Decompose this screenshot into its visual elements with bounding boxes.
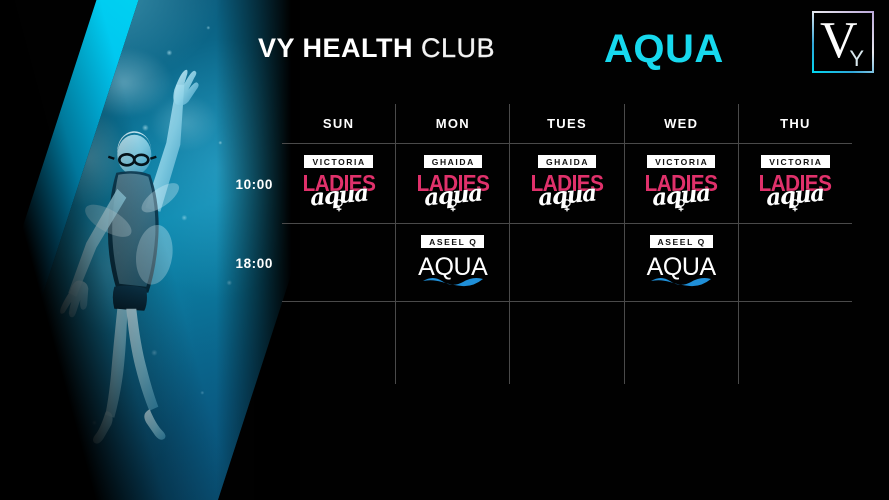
- day-header-tues: TUES: [510, 104, 624, 144]
- venus-symbol-icon: [675, 199, 687, 212]
- schedule-row-1800: 18:00 ASEEL Q AQUA ASEEL Q AQUA: [220, 224, 852, 302]
- instructor-badge: ASEEL Q: [650, 235, 713, 248]
- class-cell[interactable]: ASEEL Q AQUA: [625, 224, 739, 302]
- class-cell[interactable]: VICTORIA LADIES aqua: [625, 144, 739, 224]
- time-label-1800: 18:00: [220, 224, 282, 302]
- brand-name-bold: VY HEALTH: [258, 33, 413, 63]
- day-header-sun: SUN: [282, 104, 396, 144]
- brand-name-light: CLUB: [421, 33, 495, 63]
- venus-symbol-icon: [447, 199, 459, 212]
- page-title: VY HEALTH CLUB: [258, 33, 495, 64]
- class-cell-empty[interactable]: [282, 224, 396, 302]
- vy-logo[interactable]: V Y: [812, 11, 874, 73]
- wave-icon: [422, 275, 484, 290]
- class-cell[interactable]: GHAIDA LADIES aqua: [396, 144, 510, 224]
- venus-symbol-icon: [561, 199, 573, 212]
- ladies-aqua-logo: LADIES aqua: [524, 172, 610, 212]
- class-cell-empty[interactable]: [625, 302, 739, 384]
- instructor-badge: GHAIDA: [424, 155, 482, 168]
- section-title-aqua: AQUA: [604, 27, 724, 72]
- class-cell-empty[interactable]: [510, 224, 624, 302]
- class-cell[interactable]: GHAIDA LADIES aqua: [510, 144, 624, 224]
- class-cell-empty[interactable]: [282, 302, 396, 384]
- day-header-mon: MON: [396, 104, 510, 144]
- ladies-aqua-logo: LADIES aqua: [638, 172, 724, 212]
- instructor-badge: VICTORIA: [304, 155, 372, 168]
- venus-symbol-icon: [789, 199, 801, 212]
- aqua-logo: AQUA: [411, 254, 495, 290]
- schedule-table: SUN MON TUES WED THU 10:00 VICTORIA LADI…: [220, 104, 852, 384]
- ladies-aqua-logo: LADIES aqua: [752, 172, 838, 212]
- venus-symbol-icon: [333, 199, 345, 212]
- class-cell-empty[interactable]: [739, 224, 852, 302]
- time-label-1000: 10:00: [220, 144, 282, 224]
- instructor-badge: GHAIDA: [538, 155, 596, 168]
- class-cell-empty[interactable]: [396, 302, 510, 384]
- schedule-row-1000: 10:00 VICTORIA LADIES aqua GHAIDA LADIES…: [220, 144, 852, 224]
- wave-icon: [650, 275, 712, 290]
- class-cell-empty[interactable]: [739, 302, 852, 384]
- instructor-badge: VICTORIA: [647, 155, 715, 168]
- logo-letter-y: Y: [849, 48, 864, 70]
- day-header-wed: WED: [625, 104, 739, 144]
- schedule-header-row: SUN MON TUES WED THU: [220, 104, 852, 144]
- ladies-aqua-logo: LADIES aqua: [410, 172, 496, 212]
- header-corner-spacer: [220, 104, 282, 144]
- class-cell[interactable]: ASEEL Q AQUA: [396, 224, 510, 302]
- instructor-badge: VICTORIA: [761, 155, 829, 168]
- class-cell-empty[interactable]: [510, 302, 624, 384]
- day-header-thu: THU: [739, 104, 852, 144]
- class-cell[interactable]: VICTORIA LADIES aqua: [282, 144, 396, 224]
- class-cell[interactable]: VICTORIA LADIES aqua: [739, 144, 852, 224]
- ladies-aqua-logo: LADIES aqua: [296, 172, 382, 212]
- instructor-badge: ASEEL Q: [421, 235, 484, 248]
- time-label-empty: [220, 302, 282, 384]
- schedule-row-empty: [220, 302, 852, 384]
- aqua-logo: AQUA: [639, 254, 723, 290]
- poster-canvas: VY HEALTH CLUB AQUA V Y SUN MON TUES WED…: [0, 0, 889, 500]
